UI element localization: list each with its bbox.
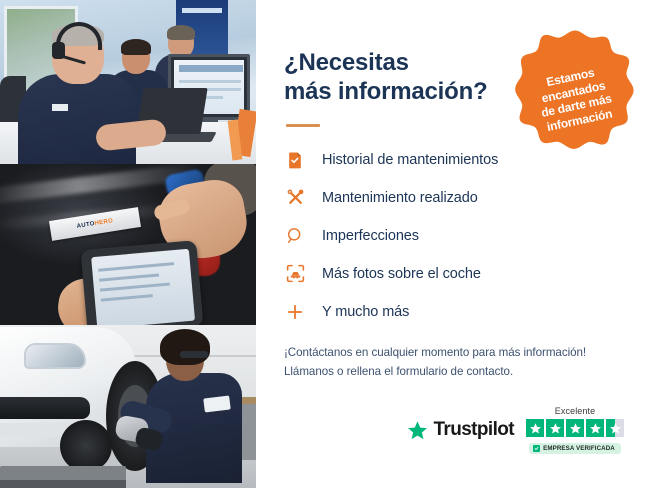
car-photo-frame-icon [284,263,306,285]
technician-hair [160,329,210,365]
inspection-tablet [80,240,203,325]
star-filled [546,419,564,437]
agent-body [18,74,136,164]
title-divider [286,124,320,127]
verified-label: EMPRESA VERIFICADA [543,445,615,452]
car-grille [0,397,90,419]
star-rating [526,419,624,437]
photo-collage: AUTOHERO [0,0,256,488]
trustpilot-score-block: Excelente EMPRESA VERIFICADA [526,406,624,454]
photo-car-inspection: AUTOHERO [0,164,256,325]
headline-line-2: más información? [284,78,488,105]
star-filled [526,419,544,437]
magnifier-icon [284,225,306,247]
screen-row [179,80,241,83]
promo-banner: AUTOHERO [0,0,650,488]
verified-badge: EMPRESA VERIFICADA [529,443,621,454]
tablet-screen [91,249,195,325]
feature-label: Mantenimiento realizado [322,190,478,206]
list-item: Mantenimiento realizado [284,187,624,209]
second-agent-hair [121,39,151,55]
list-item: Más fotos sobre el coche [284,263,624,285]
content-panel: ¿Necesitas más información? Historial de… [256,0,650,488]
star-filled [566,419,584,437]
tools-cross-icon [284,187,306,209]
agent-name-badge [52,104,68,111]
rating-label: Excelente [555,406,595,416]
feature-label: Historial de mantenimientos [322,152,498,168]
tablet-text-line [98,262,174,272]
trustpilot-wordmark: Trustpilot [433,419,514,441]
photo-wheel-inspection [0,325,256,488]
headline-line-1: ¿Necesitas [284,49,409,76]
trustpilot-rating[interactable]: Trustpilot Excelente EMPRESA VERIFICADA [407,406,624,454]
list-item: Imperfecciones [284,225,624,247]
info-badge: Estamos encantados de darte más informac… [512,28,638,154]
star-half [606,419,624,437]
photo-call-center [0,0,256,164]
tablet-text-line [100,283,170,292]
contact-note: ¡Contáctanos en cualquier momento para m… [284,343,624,382]
tablet-text-line [99,273,159,281]
feature-label: Imperfecciones [322,228,419,244]
maintenance-history-icon [284,149,306,171]
note-line-2: Llámanos o rellena el formulario de cont… [284,365,513,378]
rear-wheel [60,420,112,472]
headset-icon [501,28,523,48]
trustpilot-star-icon [407,420,428,441]
feature-label: Y mucho más [322,304,409,320]
page-title: ¿Necesitas más información? [284,48,514,107]
safety-glasses [180,351,208,358]
star-filled [586,419,604,437]
wall-banner-stripe [182,8,222,13]
list-item: Y mucho más [284,301,624,323]
note-line-1: ¡Contáctanos en cualquier momento para m… [284,346,586,359]
feature-list: Historial de mantenimientos Mantenimient… [284,149,624,323]
verified-check-icon [533,445,540,452]
autohero-logo-text: AUTOHERO [76,218,113,230]
feature-label: Más fotos sobre el coche [322,266,481,282]
trustpilot-logo: Trustpilot [407,419,514,441]
plus-icon [284,301,306,323]
tablet-text-line [101,294,153,302]
car-lift-base [0,480,126,488]
car-headlight [24,343,86,369]
background-agent-hair [167,25,195,40]
screen-header-bar [179,65,243,72]
